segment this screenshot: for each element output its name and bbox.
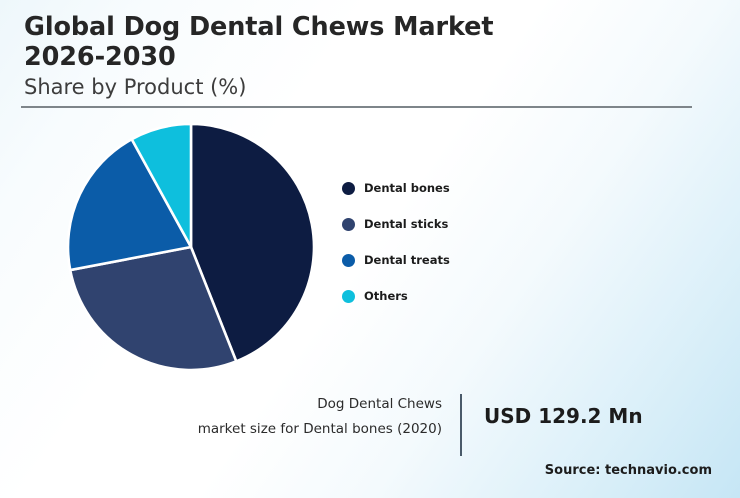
- page-title-line-2: 2026-2030: [24, 42, 696, 72]
- legend-item-dental-treats[interactable]: Dental treats: [342, 242, 532, 278]
- source-label: Source: technavio.com: [545, 463, 712, 478]
- legend-item-label: Others: [364, 289, 408, 303]
- circle-swatch-icon: [342, 290, 355, 303]
- page-title-line-1: Global Dog Dental Chews Market: [24, 12, 696, 42]
- legend-item-others[interactable]: Others: [342, 278, 532, 314]
- page-subtitle: Share by Product (%): [24, 72, 696, 101]
- callout-value: USD 129.2 Mn: [484, 404, 643, 428]
- market-size-callout: Dog Dental Chews market size for Dental …: [150, 392, 710, 456]
- callout-value-wrap: USD 129.2 Mn: [462, 392, 643, 428]
- circle-swatch-icon: [342, 182, 355, 195]
- circle-swatch-icon: [342, 218, 355, 231]
- header: Global Dog Dental Chews Market 2026-2030…: [24, 12, 696, 101]
- header-divider: [21, 106, 692, 108]
- callout-description: Dog Dental Chews market size for Dental …: [150, 392, 460, 442]
- pie-chart: [66, 122, 316, 372]
- legend-item-dental-sticks[interactable]: Dental sticks: [342, 206, 532, 242]
- callout-description-line-2: market size for Dental bones (2020): [150, 417, 442, 442]
- legend-item-label: Dental bones: [364, 181, 450, 195]
- legend-item-dental-bones[interactable]: Dental bones: [342, 170, 532, 206]
- legend-item-label: Dental sticks: [364, 217, 448, 231]
- circle-swatch-icon: [342, 254, 355, 267]
- legend-item-label: Dental treats: [364, 253, 450, 267]
- chart-legend: Dental bones Dental sticks Dental treats…: [342, 170, 532, 314]
- pie-slices: [68, 124, 314, 370]
- infographic-canvas: Global Dog Dental Chews Market 2026-2030…: [0, 0, 740, 498]
- callout-description-line-1: Dog Dental Chews: [150, 392, 442, 417]
- pie-chart-svg: [66, 122, 316, 372]
